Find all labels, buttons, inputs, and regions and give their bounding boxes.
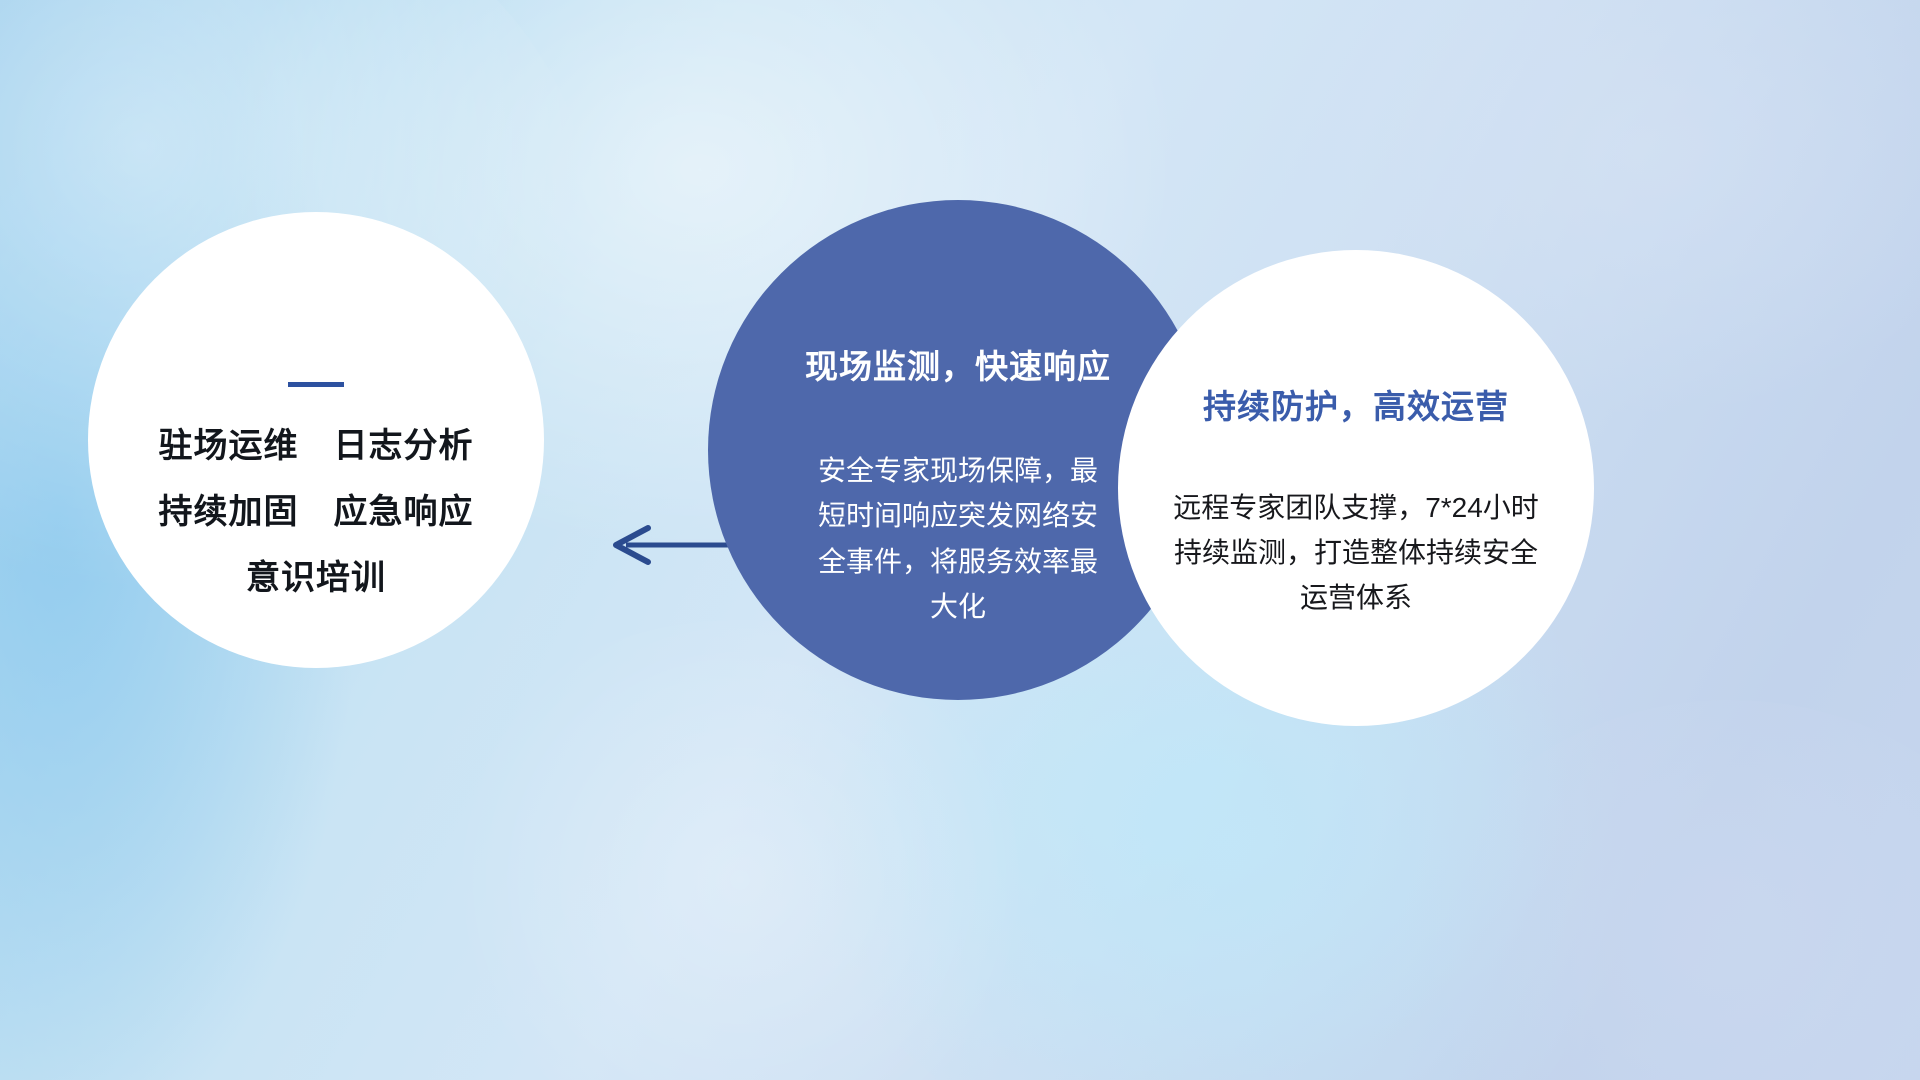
divider-dash — [288, 382, 344, 387]
capability-row-2: 持续加固 应急响应 — [159, 495, 474, 529]
circle-onsite-monitoring-body: 安全专家现场保障，最短时间响应突发网络安全事件，将服务效率最大化 — [808, 448, 1108, 629]
capability-row-1: 驻场运维 日志分析 — [159, 429, 474, 463]
circle-continuous-protection-body: 远程专家团队支撑，7*24小时持续监测，打造整体持续安全运营体系 — [1170, 486, 1542, 620]
circle-onsite-monitoring-title: 现场监测，快速响应 — [805, 340, 1111, 388]
slide-canvas: 现场监测，快速响应 安全专家现场保障，最短时间响应突发网络安全事件，将服务效率最… — [0, 0, 1920, 1080]
circle-continuous-protection-content: 持续防护，高效运营 远程专家团队支撑，7*24小时持续监测，打造整体持续安全运营… — [1118, 250, 1594, 620]
circle-service-capabilities-content: 驻场运维 日志分析 持续加固 应急响应 意识培训 — [88, 212, 544, 595]
circle-service-capabilities[interactable]: 驻场运维 日志分析 持续加固 应急响应 意识培训 — [88, 212, 544, 668]
circle-continuous-protection-title: 持续防护，高效运营 — [1203, 380, 1509, 428]
capability-row-3: 意识培训 — [246, 561, 386, 595]
circle-continuous-protection[interactable]: 持续防护，高效运营 远程专家团队支撑，7*24小时持续监测，打造整体持续安全运营… — [1118, 250, 1594, 726]
background-glow-bottom-right — [1420, 700, 1920, 1080]
